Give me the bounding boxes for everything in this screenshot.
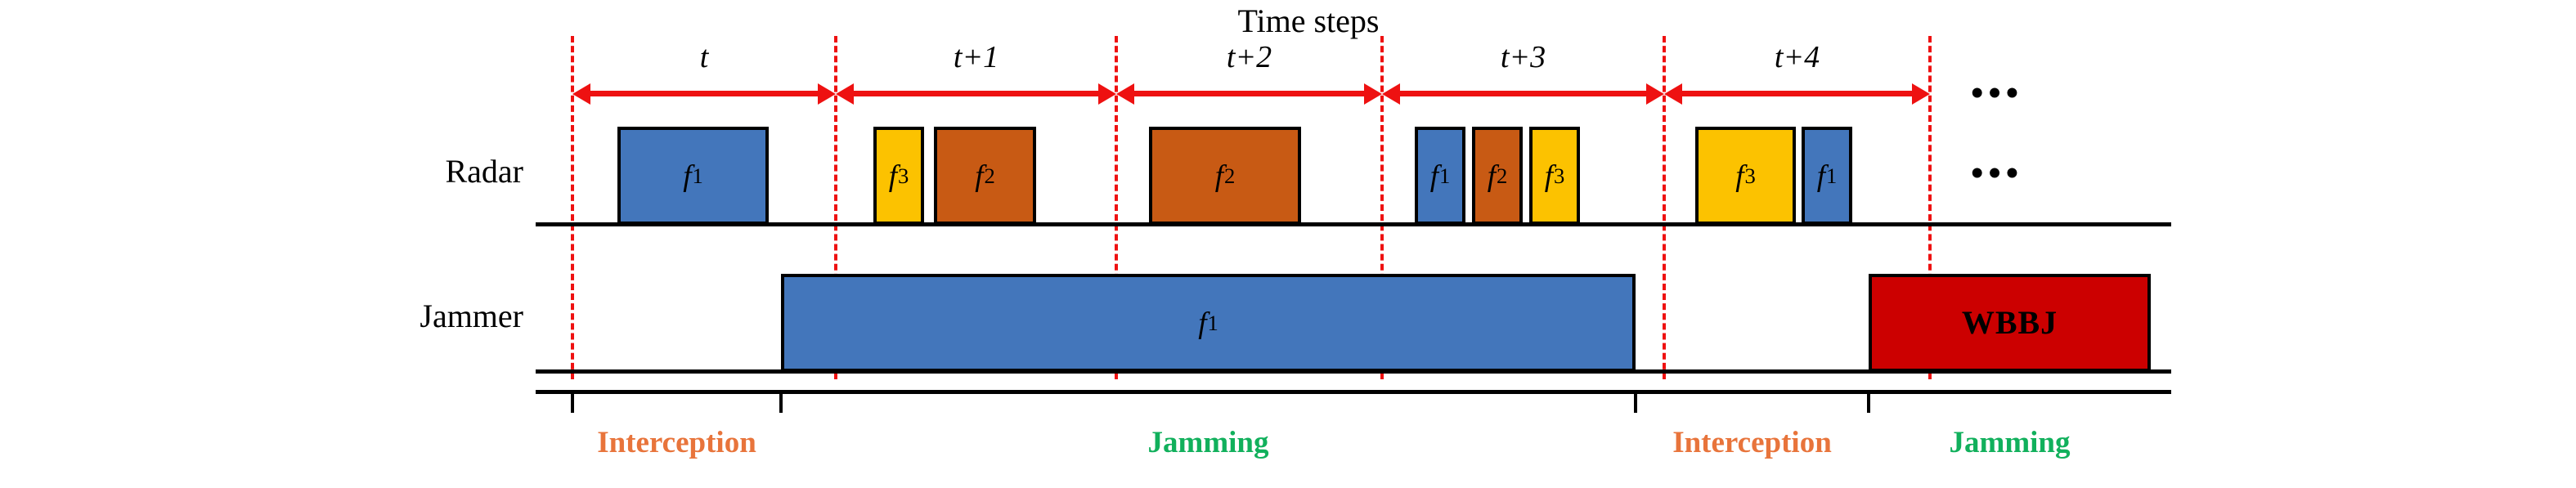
radar-ellipsis-icon: ••• xyxy=(1971,155,2023,191)
freq-symbol: f xyxy=(683,161,691,191)
radar-pulse-block-2: f2 xyxy=(934,127,1036,225)
phase-tick-1 xyxy=(779,390,783,413)
time-step-label-4: t+4 xyxy=(1664,39,1930,75)
row-label-jammer: Jammer xyxy=(245,297,523,335)
time-step-arrow-1 xyxy=(836,83,1116,105)
freq-symbol: f xyxy=(1430,161,1438,191)
radar-pulse-block-1: f3 xyxy=(873,127,924,225)
freq-subscript: 3 xyxy=(1744,165,1755,187)
freq-symbol: f xyxy=(889,161,897,191)
arrow-head-right-icon xyxy=(1364,83,1382,105)
phase-tick-0 xyxy=(571,390,574,413)
phase-label-1: Jamming xyxy=(781,425,1636,460)
arrow-shaft xyxy=(1393,91,1653,96)
arrow-head-right-icon xyxy=(1098,83,1116,105)
freq-subscript: 3 xyxy=(1554,165,1564,187)
row-label-radar: Radar xyxy=(245,152,523,190)
time-step-label-0: t xyxy=(572,39,836,75)
freq-subscript: 2 xyxy=(984,165,994,187)
arrow-shaft xyxy=(584,91,824,96)
arrow-head-right-icon xyxy=(1912,83,1930,105)
freq-symbol: f xyxy=(1735,161,1744,191)
freq-subscript: 1 xyxy=(1439,165,1450,187)
freq-symbol: f xyxy=(1215,161,1223,191)
radar-pulse-block-8: f1 xyxy=(1802,127,1852,225)
diagram-canvas: Time steps Radar Jammer tt+1t+2t+3t+4 f1… xyxy=(0,0,2576,488)
radar-pulse-block-3: f2 xyxy=(1149,127,1301,225)
phase-tick-3 xyxy=(1867,390,1870,413)
time-step-label-2: t+2 xyxy=(1116,39,1382,75)
time-step-arrow-0 xyxy=(572,83,836,105)
arrow-shaft xyxy=(1128,91,1371,96)
phase-label-0: Interception xyxy=(572,425,781,460)
phase-tick-2 xyxy=(1634,390,1637,413)
radar-pulse-block-7: f3 xyxy=(1695,127,1796,225)
time-step-arrow-2 xyxy=(1116,83,1382,105)
phase-label-2: Interception xyxy=(1636,425,1869,460)
radar-pulse-block-6: f3 xyxy=(1529,127,1580,225)
radar-pulse-block-0: f1 xyxy=(617,127,769,225)
time-step-label-3: t+3 xyxy=(1382,39,1664,75)
freq-subscript: 2 xyxy=(1497,165,1507,187)
freq-symbol: f xyxy=(1488,161,1496,191)
freq-subscript: 1 xyxy=(692,165,702,187)
phase-label-3: Jamming xyxy=(1869,425,2151,460)
radar-pulse-block-5: f2 xyxy=(1472,127,1523,225)
time-step-arrow-3 xyxy=(1382,83,1664,105)
time-step-label-1: t+1 xyxy=(836,39,1116,75)
arrow-shaft xyxy=(847,91,1105,96)
arrow-head-right-icon xyxy=(818,83,836,105)
freq-subscript: 2 xyxy=(1224,165,1235,187)
page-title: Time steps xyxy=(1145,2,1472,40)
jammer-pulse-block-1: WBBJ xyxy=(1869,274,2151,372)
radar-baseline xyxy=(536,222,2171,226)
timestep-ellipsis-icon: ••• xyxy=(1971,75,2023,111)
jammer-pulse-block-0: f1 xyxy=(781,274,1636,372)
freq-subscript: 1 xyxy=(1826,165,1837,187)
freq-subscript: 1 xyxy=(1207,312,1218,334)
freq-symbol: f xyxy=(1198,308,1206,338)
radar-pulse-block-4: f1 xyxy=(1415,127,1465,225)
freq-subscript: 3 xyxy=(898,165,909,187)
freq-symbol: f xyxy=(1545,161,1553,191)
time-step-arrow-4 xyxy=(1664,83,1930,105)
arrow-head-right-icon xyxy=(1646,83,1664,105)
arrow-shaft xyxy=(1676,91,1919,96)
freq-symbol: f xyxy=(1817,161,1825,191)
freq-symbol: f xyxy=(975,161,983,191)
